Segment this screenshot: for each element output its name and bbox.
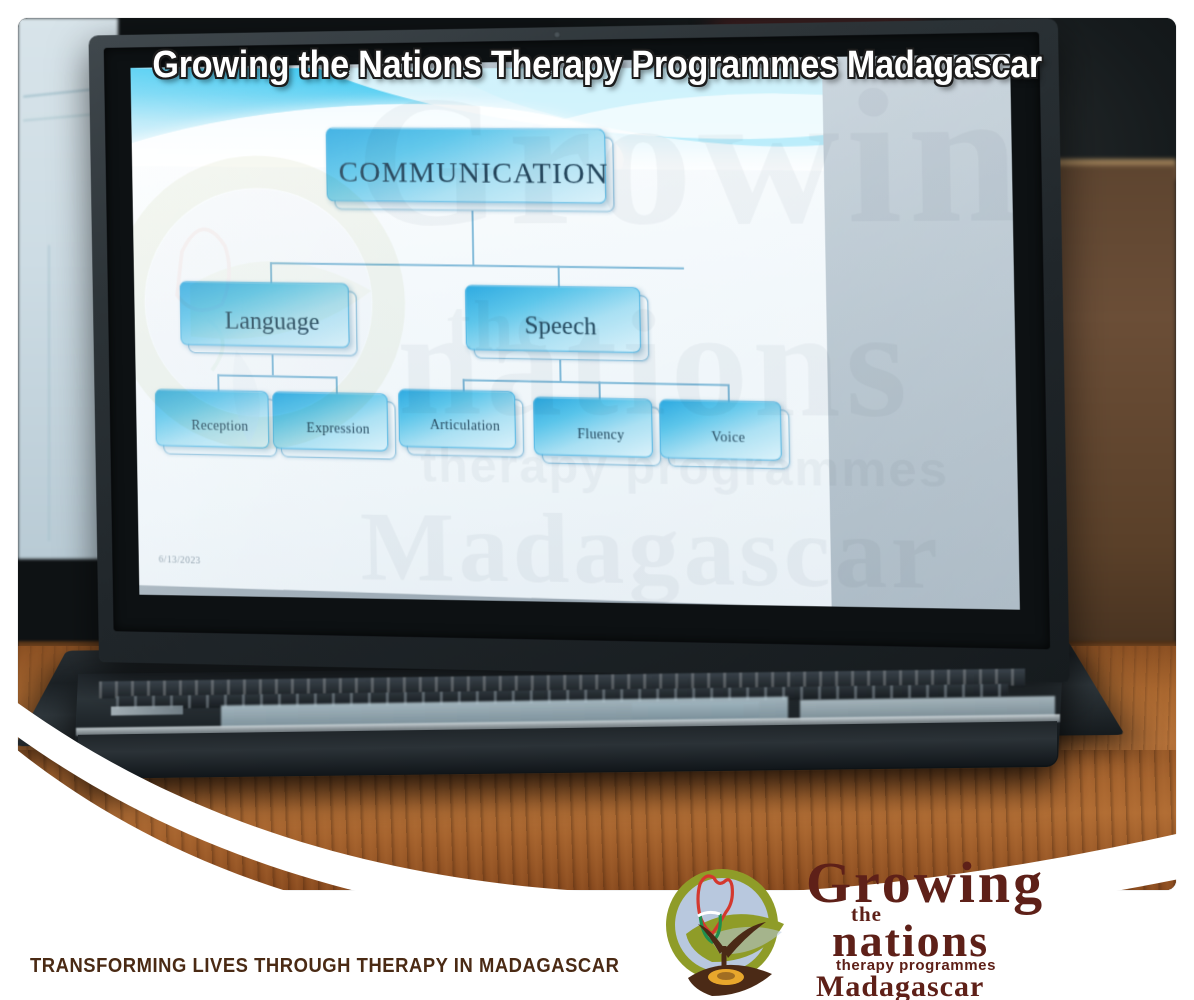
connector-root-down xyxy=(472,211,475,266)
laptop-lid: COMMUNICATION Language Speech Reception … xyxy=(89,18,1070,683)
connector-speech-bar xyxy=(463,380,728,387)
node-language[interactable]: Language xyxy=(187,289,357,357)
node-expression[interactable]: Expression xyxy=(280,400,397,460)
brand-growing: Growing xyxy=(806,854,1045,912)
node-reception[interactable]: Reception xyxy=(163,397,278,457)
brand-madagascar: Madagascar xyxy=(816,972,984,1000)
laptop-bezel: COMMUNICATION Language Speech Reception … xyxy=(104,32,1051,649)
connector-root-bar xyxy=(270,263,684,270)
node-fluency[interactable]: Fluency xyxy=(541,405,661,466)
poster-frame: COMMUNICATION Language Speech Reception … xyxy=(0,0,1194,1000)
node-communication[interactable]: COMMUNICATION xyxy=(333,136,614,212)
screen-blank-area xyxy=(813,54,1020,609)
footer-tagline: TRANSFORMING LIVES THROUGH THERAPY IN MA… xyxy=(30,955,619,978)
webcam-icon xyxy=(554,31,561,38)
poster-footer: TRANSFORMING LIVES THROUGH THERAPY IN MA… xyxy=(0,810,1194,1000)
brand-lockup: Growing the nations therapy programmes M… xyxy=(650,850,1096,994)
connector-language-down xyxy=(272,355,274,376)
slide-date-stamp: 6/13/2023 xyxy=(159,555,201,567)
laptop-screen[interactable]: COMMUNICATION Language Speech Reception … xyxy=(130,54,1020,609)
growing-nations-logo-icon xyxy=(650,850,800,1000)
node-voice[interactable]: Voice xyxy=(667,408,789,470)
presentation-slide[interactable]: COMMUNICATION Language Speech Reception … xyxy=(130,68,831,608)
node-speech[interactable]: Speech xyxy=(473,293,649,362)
connector-speech-down xyxy=(559,360,561,381)
connector-language-bar xyxy=(217,375,337,379)
brand-wordmark: Growing the nations therapy programmes M… xyxy=(806,852,1096,994)
node-articulation[interactable]: Articulation xyxy=(406,397,524,458)
